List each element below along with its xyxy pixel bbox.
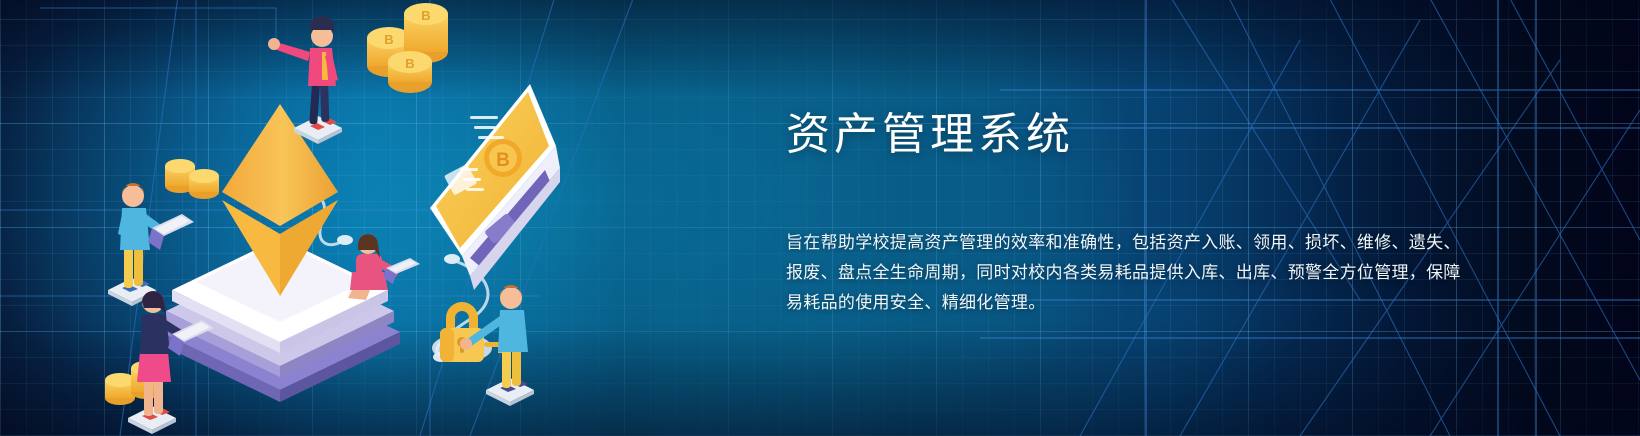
page-title: 资产管理系统	[786, 98, 1074, 162]
svg-text:B: B	[496, 150, 510, 171]
coin-stack-top: B B B	[367, 3, 448, 93]
asset-management-hero-banner: B B B	[0, 0, 1640, 436]
padlock	[432, 302, 506, 362]
svg-text:B: B	[405, 56, 414, 71]
page-description: 旨在帮助学校提高资产管理的效率和准确性，包括资产入账、领用、损坏、维修、遗失、报…	[786, 228, 1464, 318]
coin-stack-left	[165, 159, 219, 199]
svg-text:B: B	[384, 32, 393, 47]
hero-copy: 资产管理系统 旨在帮助学校提高资产管理的效率和准确性，包括资产入账、领用、损坏、…	[786, 0, 1486, 436]
svg-text:B: B	[421, 8, 430, 23]
hero-illustration: B B B	[0, 0, 560, 436]
